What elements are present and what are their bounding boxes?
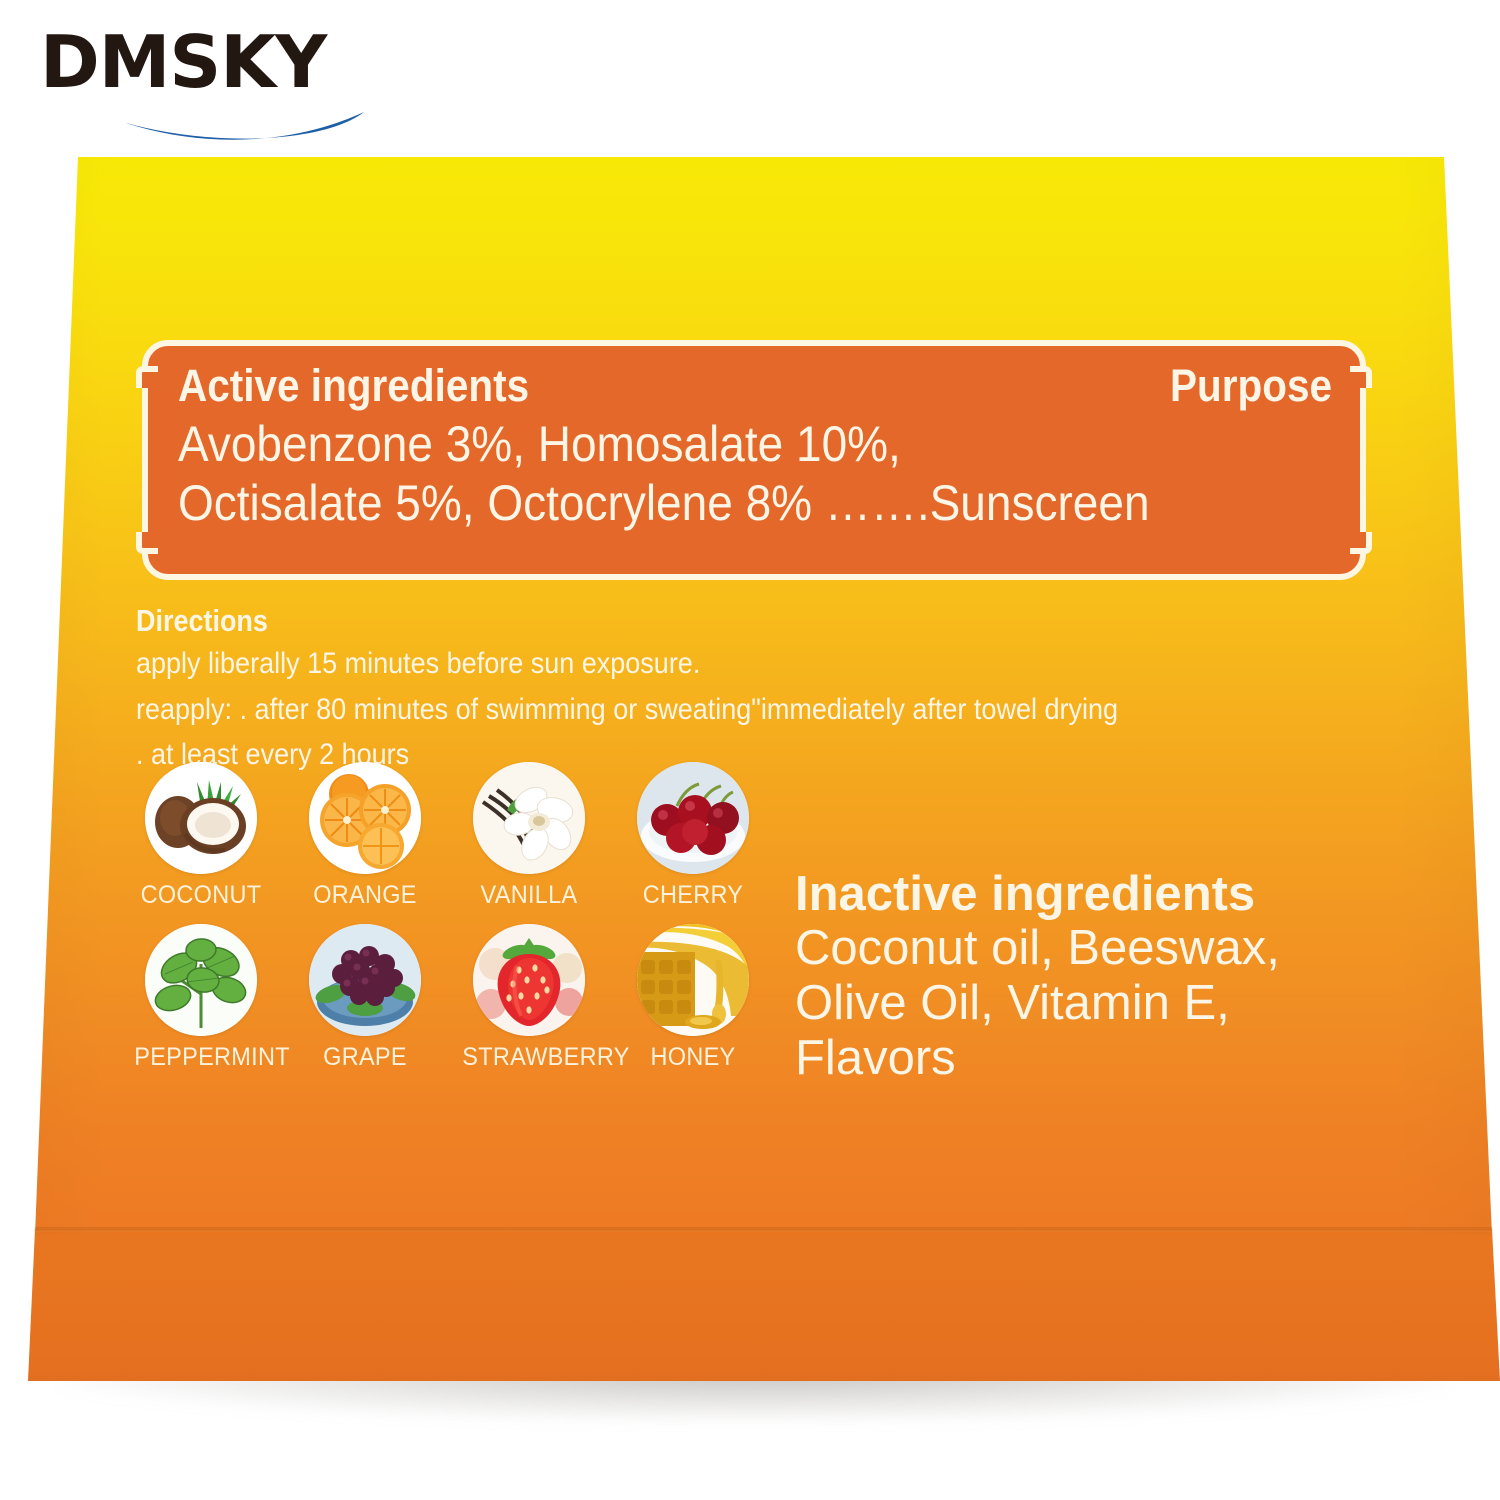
active-ingredients-line-2: Octisalate 5%, Octocrylene 8% …….Sunscre… bbox=[178, 474, 1240, 533]
active-panel-content: Active ingredients Purpose Avobenzone 3%… bbox=[142, 340, 1366, 580]
flavor-row-1: COCONUT bbox=[130, 762, 790, 910]
inactive-ingredients-line-1: Coconut oil, Beeswax, bbox=[795, 921, 1415, 976]
strawberry-icon bbox=[473, 924, 585, 1036]
active-ingredients-line-1: Avobenzone 3%, Homosalate 10%, bbox=[178, 415, 1240, 474]
peppermint-icon bbox=[145, 924, 257, 1036]
flavor-item-grape[interactable]: GRAPE bbox=[294, 924, 436, 1072]
orange-icon bbox=[309, 762, 421, 874]
flavor-label-strawberry: STRAWBERRY bbox=[462, 1043, 595, 1072]
flavor-label-grape: GRAPE bbox=[298, 1043, 431, 1072]
flavor-label-cherry: CHERRY bbox=[626, 881, 759, 910]
product-box: Active ingredients Purpose Avobenzone 3%… bbox=[0, 150, 1500, 1450]
brand-swoosh-icon bbox=[126, 112, 364, 146]
flavor-label-coconut: COCONUT bbox=[134, 881, 267, 910]
cherry-icon bbox=[637, 762, 749, 874]
directions-line-2: reapply: . after 80 minutes of swimming … bbox=[136, 689, 1261, 730]
purpose-heading: Purpose bbox=[1170, 362, 1332, 409]
inactive-ingredients-line-3: Flavors bbox=[795, 1031, 1415, 1086]
flavor-item-peppermint[interactable]: PEPPERMINT bbox=[130, 924, 272, 1072]
flavor-label-vanilla: VANILLA bbox=[462, 881, 595, 910]
directions-block: Directions apply liberally 15 minutes be… bbox=[136, 602, 1386, 775]
inactive-ingredients-block: Inactive ingredients Coconut oil, Beeswa… bbox=[795, 868, 1415, 1086]
flavor-item-strawberry[interactable]: STRAWBERRY bbox=[458, 924, 600, 1072]
flavor-label-peppermint: PEPPERMINT bbox=[134, 1043, 267, 1072]
flavor-row-2: PEPPERMINT bbox=[130, 924, 790, 1072]
flavor-label-honey: HONEY bbox=[626, 1043, 759, 1072]
flavor-item-coconut[interactable]: COCONUT bbox=[130, 762, 272, 910]
inactive-ingredients-line-2: Olive Oil, Vitamin E, bbox=[795, 976, 1415, 1031]
flavor-item-vanilla[interactable]: VANILLA bbox=[458, 762, 600, 910]
active-ingredients-heading: Active ingredients bbox=[178, 362, 529, 409]
brand-logo: DMSKY bbox=[40, 26, 370, 144]
brand-wordmark: DMSKY bbox=[40, 26, 326, 98]
grape-icon bbox=[309, 924, 421, 1036]
box-print-layer: Active ingredients Purpose Avobenzone 3%… bbox=[0, 150, 1500, 1235]
coconut-icon bbox=[145, 762, 257, 874]
box-front-face bbox=[0, 1229, 1500, 1389]
directions-heading: Directions bbox=[136, 602, 1224, 639]
flavor-label-orange: ORANGE bbox=[298, 881, 431, 910]
inactive-ingredients-heading: Inactive ingredients bbox=[795, 868, 1415, 921]
active-panel-header-row: Active ingredients Purpose bbox=[178, 362, 1332, 409]
active-ingredients-body: Avobenzone 3%, Homosalate 10%, Octisalat… bbox=[178, 415, 1332, 532]
directions-line-1: apply liberally 15 minutes before sun ex… bbox=[136, 643, 1261, 684]
vanilla-icon bbox=[473, 762, 585, 874]
flavor-grid: COCONUT bbox=[130, 762, 790, 1086]
flavor-item-honey[interactable]: HONEY bbox=[622, 924, 764, 1072]
flavor-item-cherry[interactable]: CHERRY bbox=[622, 762, 764, 910]
honey-icon bbox=[637, 924, 749, 1036]
active-ingredients-panel: Active ingredients Purpose Avobenzone 3%… bbox=[142, 340, 1366, 580]
flavor-item-orange[interactable]: ORANGE bbox=[294, 762, 436, 910]
